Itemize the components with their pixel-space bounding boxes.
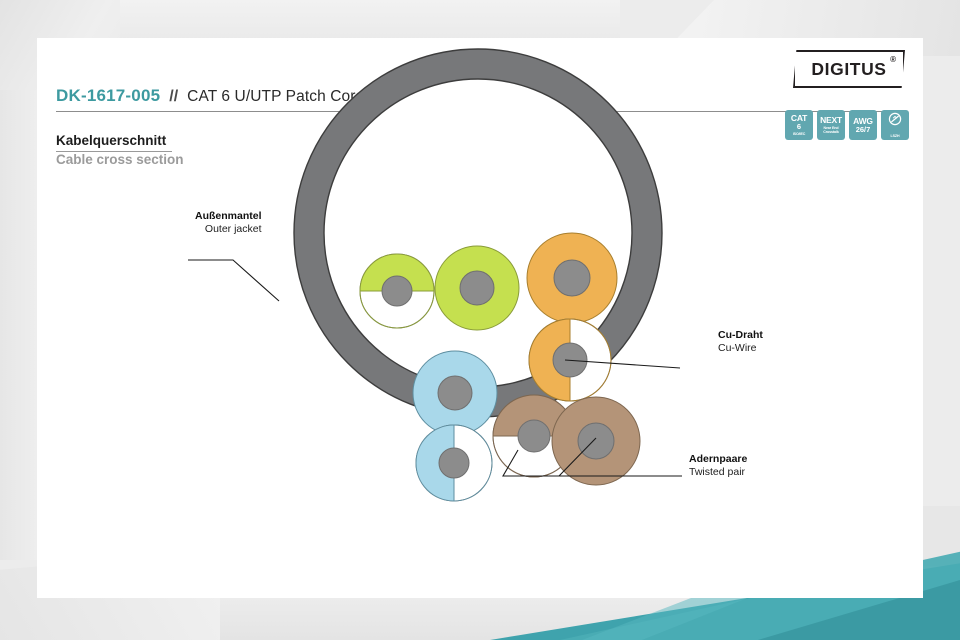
screenshot-root: DIGITUS ® DK-1617-005 // CAT 6 U/UTP Pat… — [0, 0, 960, 640]
green-white-wire — [360, 254, 434, 328]
annotation-twisted-pair: Adernpaare Twisted pair — [689, 453, 747, 479]
annotation-outer-jacket-de: Außenmantel — [195, 210, 262, 223]
annotation-twisted-pair-de: Adernpaare — [689, 453, 747, 466]
cable-cross-section-diagram — [37, 38, 923, 598]
brown-pair — [493, 395, 640, 485]
annotation-outer-jacket: Außenmantel Outer jacket — [195, 210, 262, 236]
blue-pair — [413, 351, 497, 501]
annotation-cu-wire: Cu-Draht Cu-Wire — [718, 329, 763, 355]
orange-solid-wire — [527, 233, 617, 323]
green-solid-wire — [435, 246, 519, 330]
background-facet-bottom-strip — [0, 592, 960, 640]
annotation-outer-jacket-en: Outer jacket — [195, 223, 262, 236]
content-card: DIGITUS ® DK-1617-005 // CAT 6 U/UTP Pat… — [37, 38, 923, 598]
blue-white-wire — [416, 425, 492, 501]
annotation-cu-wire-de: Cu-Draht — [718, 329, 763, 342]
blue-solid-wire — [413, 351, 497, 435]
leader-line-outer-jacket — [188, 260, 279, 301]
brown-solid-wire — [552, 397, 640, 485]
annotation-cu-wire-en: Cu-Wire — [718, 342, 763, 355]
annotation-twisted-pair-en: Twisted pair — [689, 466, 747, 479]
